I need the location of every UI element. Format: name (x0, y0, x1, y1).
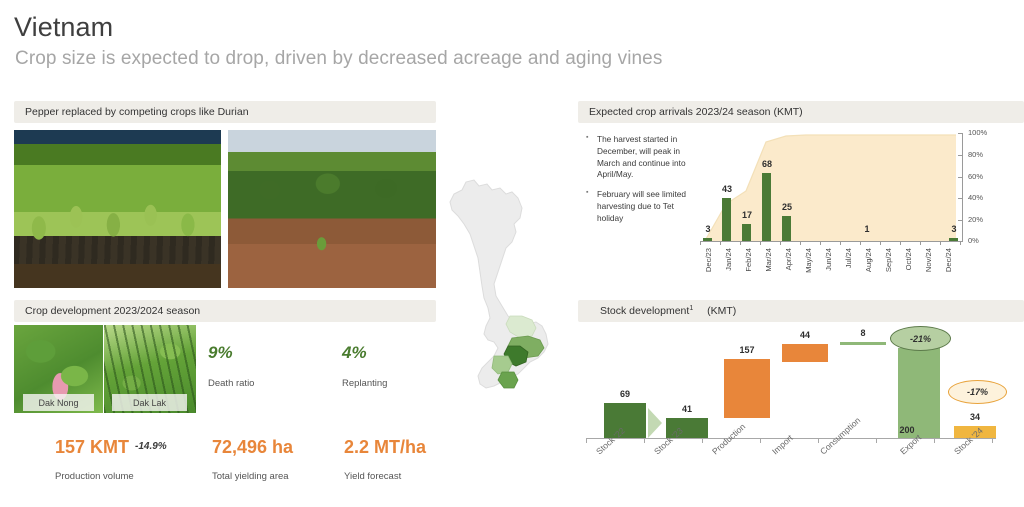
arrivals-xtick-8 (860, 241, 861, 245)
arrivals-bullet-1: The harvest started in December, will pe… (586, 134, 698, 181)
arrivals-xlabel-3: Mar/24 (764, 248, 773, 272)
kpi-production-volume-value: 157 KMT (55, 437, 129, 458)
stock-tick-4 (818, 438, 819, 443)
arrivals-ylabel-80: 80% (968, 150, 983, 159)
arrivals-xlabel-9: Sep/24 (884, 248, 893, 272)
vietnam-map (432, 120, 592, 412)
kpi-yielding-area-label: Total yielding area (212, 471, 289, 482)
stock-annotation-stock24-change: -17% (948, 380, 1007, 404)
photo-caption-dak-lak: Dak Lak (112, 394, 187, 411)
arrivals-xtick-3 (760, 241, 761, 245)
arrivals-bar-label-dec23: 3 (696, 224, 720, 234)
photos-panel-header: Pepper replaced by competing crops like … (14, 101, 436, 123)
arrivals-xlabel-5: May/24 (804, 248, 813, 273)
arrivals-xtick-6 (820, 241, 821, 245)
stock-bar-label-stock23: 41 (666, 404, 708, 414)
photos-panel-title: Pepper replaced by competing crops like … (14, 106, 249, 118)
photo-durian-saplings (14, 130, 221, 288)
stock-bar-production (724, 359, 770, 418)
arrivals-xlabel-7: Jul/24 (844, 248, 853, 268)
arrivals-xlabel-0: Dec/23 (704, 248, 713, 272)
kpi-replanting-label: Replanting (342, 378, 387, 389)
arrivals-ylabel-20: 20% (968, 215, 983, 224)
arrivals-xtick-10 (900, 241, 901, 245)
arrivals-ytick-60 (958, 177, 963, 178)
crop-development-title: Crop development 2023/2024 season (14, 305, 200, 317)
arrivals-ytick-100 (958, 133, 963, 134)
arrivals-xlabel-6: Jun/24 (824, 248, 833, 271)
page-title: Vietnam (14, 12, 113, 43)
stock-tick-6 (934, 438, 935, 443)
kpi-death-ratio-value: 9% (208, 343, 233, 363)
arrivals-cumulative-area (700, 128, 968, 243)
stock-bar-label-import: 44 (782, 330, 828, 340)
stock-panel-title: Stock development1 (KMT) (578, 305, 736, 318)
stock-bar-label-stock24: 34 (954, 412, 996, 422)
arrivals-xtick-2 (740, 241, 741, 245)
arrivals-ylabel-40: 40% (968, 193, 983, 202)
arrivals-ytick-0 (958, 241, 963, 242)
arrivals-panel-header: Expected crop arrivals 2023/24 season (K… (578, 101, 1024, 123)
stock-xlabel-import: Import (770, 433, 795, 457)
arrivals-bar-feb24 (742, 224, 751, 241)
stock-bar-label-export: 200 (886, 425, 928, 435)
stock-bar-import (782, 344, 828, 362)
kpi-production-volume-delta: -14.9% (135, 441, 167, 452)
arrivals-y-axis (962, 133, 963, 242)
kpi-replanting-value: 4% (342, 343, 367, 363)
stock-tick-7 (992, 438, 993, 443)
arrivals-xlabel-2: Feb/24 (744, 248, 753, 272)
arrivals-xtick-4 (780, 241, 781, 245)
arrivals-ytick-40 (958, 198, 963, 199)
arrivals-xtick-12 (940, 241, 941, 245)
arrivals-bar-label-feb24: 17 (735, 210, 759, 220)
arrivals-xtick-5 (800, 241, 801, 245)
stock-tick-2 (702, 438, 703, 443)
arrivals-xlabel-4: Apr/24 (784, 248, 793, 270)
kpi-production-volume-label: Production volume (55, 471, 134, 482)
arrivals-bar-mar24 (762, 173, 771, 241)
arrivals-bar-label-jan24: 43 (715, 184, 739, 194)
arrivals-ylabel-60: 60% (968, 172, 983, 181)
arrivals-xlabel-1: Jan/24 (724, 248, 733, 271)
arrivals-xtick-9 (880, 241, 881, 245)
crop-development-header: Crop development 2023/2024 season (14, 300, 436, 322)
arrivals-ytick-80 (958, 155, 963, 156)
photo-caption-dak-nong: Dak Nong (23, 394, 94, 411)
kpi-yield-forecast-label: Yield forecast (344, 471, 401, 482)
arrivals-xlabel-10: Oct/24 (904, 248, 913, 270)
arrivals-bar-label-apr24: 25 (775, 202, 799, 212)
stock-bar-label-consumption: 8 (840, 328, 886, 338)
stock-bar-consumption (840, 342, 886, 345)
stock-tick-0 (586, 438, 587, 443)
stock-annotation-export-change: -21% (890, 326, 951, 351)
arrivals-bar-jan24 (722, 198, 731, 241)
stock-bar-label-stock22: 69 (604, 389, 646, 399)
arrivals-bar-apr24 (782, 216, 791, 241)
stock-panel-unit: (KMT) (693, 305, 736, 317)
kpi-death-ratio-label: Death ratio (208, 378, 254, 389)
arrivals-bullet-2: February will see limited harvesting due… (586, 189, 698, 224)
map-province-ba-ria (498, 372, 518, 388)
arrivals-xtick-0 (700, 241, 701, 245)
arrivals-xlabel-12: Dec/24 (944, 248, 953, 272)
stock-tick-3 (760, 438, 761, 443)
arrivals-xtick-1 (720, 241, 721, 245)
photo-replanted-field (228, 130, 436, 288)
stock-tick-5 (876, 438, 877, 443)
slide-canvas: Vietnam Crop size is expected to drop, d… (0, 0, 1024, 507)
stock-panel-header: Stock development1 (KMT) (578, 300, 1024, 322)
stock-waterfall-chart: 69 41 157 44 8 200 34 -21% -17% Stock '2… (586, 330, 1024, 505)
vietnam-map-svg (432, 120, 592, 412)
arrivals-xlabel-11: Nov/24 (924, 248, 933, 272)
stock-xlabel-consumption: Consumption (818, 415, 862, 456)
arrivals-ylabel-0: 0% (968, 236, 979, 245)
arrivals-ylabel-100: 100% (968, 128, 987, 137)
arrivals-panel-title: Expected crop arrivals 2023/24 season (K… (578, 106, 803, 118)
arrivals-chart: 3 43 17 68 25 1 3 Dec/23 Jan/24 Feb/24 M… (700, 128, 1024, 288)
arrivals-xlabel-8: Aug/24 (864, 248, 873, 272)
kpi-yielding-area-value: 72,496 ha (212, 437, 293, 458)
arrivals-bar-label-mar24: 68 (755, 159, 779, 169)
stock-bar-label-production: 157 (724, 345, 770, 355)
stock-panel-title-text: Stock development (589, 305, 689, 317)
arrivals-ytick-20 (958, 220, 963, 221)
kpi-yield-forecast-value: 2.2 MT/ha (344, 437, 426, 458)
arrivals-xtick-11 (920, 241, 921, 245)
page-subtitle: Crop size is expected to drop, driven by… (15, 48, 662, 70)
arrivals-xtick-7 (840, 241, 841, 245)
stock-connector-arrow-icon (648, 408, 664, 438)
stock-tick-1 (644, 438, 645, 443)
arrivals-bar-label-jul24: 1 (855, 224, 879, 234)
arrivals-bullets: The harvest started in December, will pe… (586, 134, 698, 232)
